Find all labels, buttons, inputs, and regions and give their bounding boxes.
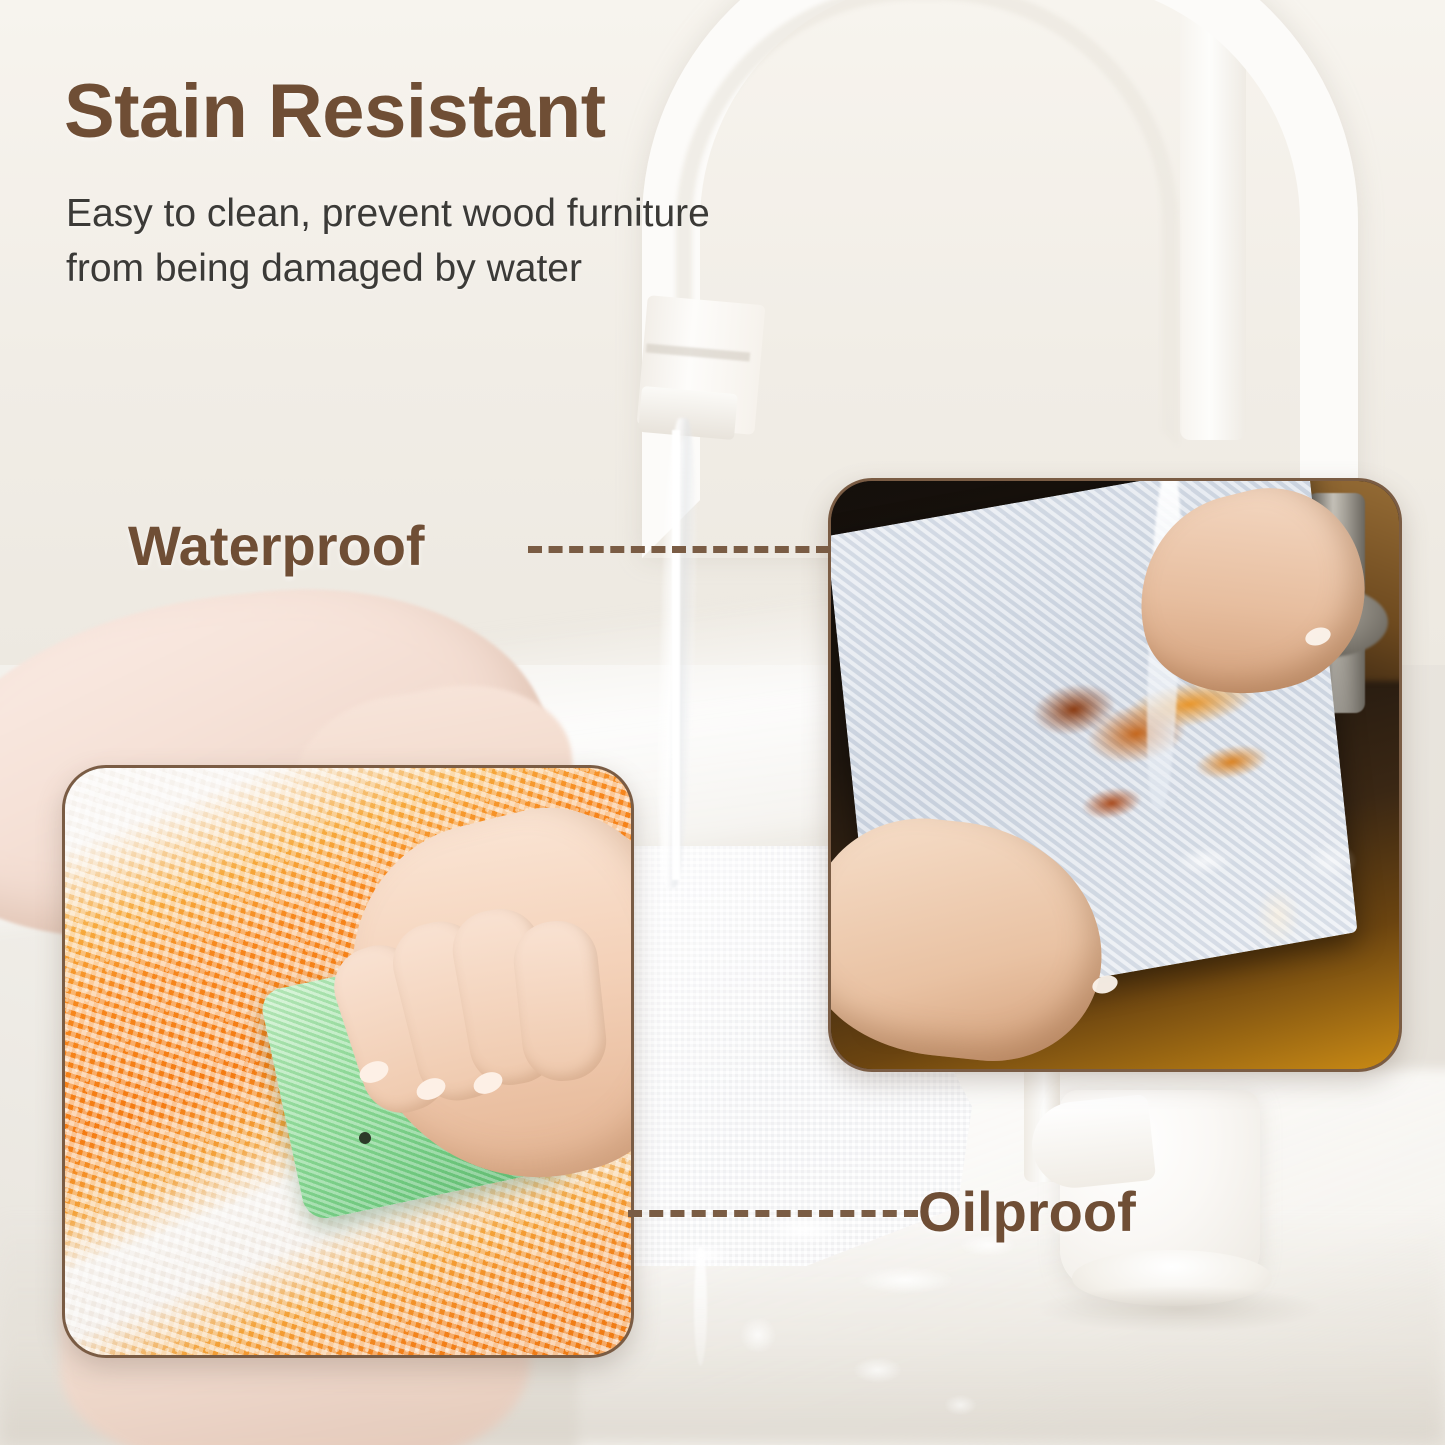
oilproof-rinse-photo (828, 478, 1402, 1072)
water-stream-highlight (672, 430, 680, 880)
subtitle-line-1: Easy to clean, prevent wood furniture (66, 186, 996, 241)
oilproof-photo-content (831, 481, 1399, 1069)
annotation-label-waterproof: Waterproof (128, 518, 425, 574)
stain-photo-content (65, 768, 631, 1355)
annotation-label-oilproof: Oilproof (918, 1184, 1136, 1240)
annotation-connector-oilproof (628, 1210, 918, 1217)
stain-wipe-photo (62, 765, 634, 1358)
page-subtitle: Easy to clean, prevent wood furniture fr… (66, 186, 996, 297)
product-feature-image: Stain Resistant Easy to clean, prevent w… (0, 0, 1445, 1445)
rinse-water-splash (1126, 787, 1387, 1034)
annotation-connector-waterproof (528, 546, 830, 553)
page-title: Stain Resistant (64, 74, 606, 150)
subtitle-line-2: from being damaged by water (66, 241, 996, 296)
faucet-base-shadow (1040, 1286, 1320, 1332)
